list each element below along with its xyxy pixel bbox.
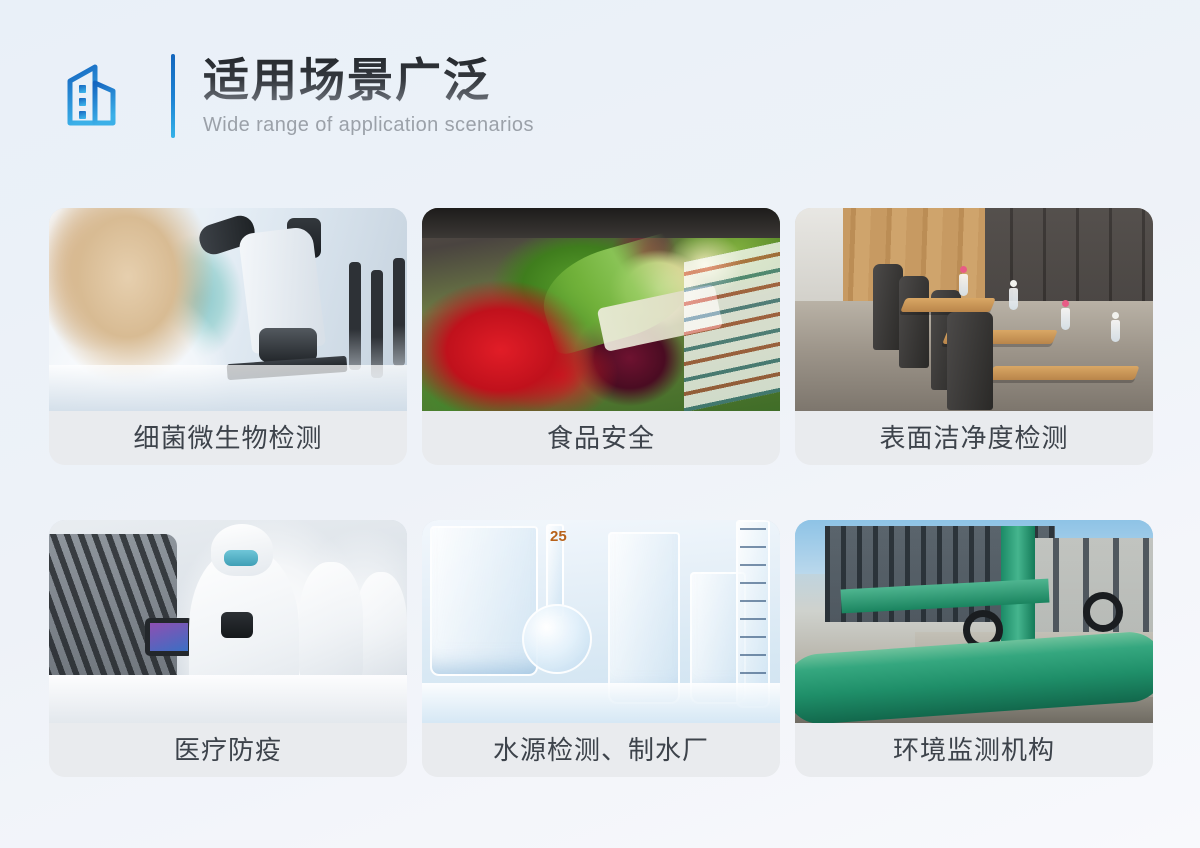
restaurant-interior-photo — [795, 208, 1153, 411]
lab-bench-shape — [49, 365, 407, 411]
production-machine-shape — [49, 534, 177, 684]
page-title: 适用场景广泛 — [203, 55, 534, 107]
beaker-shape — [430, 526, 538, 676]
flower-vase-shape — [1009, 288, 1018, 310]
vegetable-market-photo — [422, 208, 780, 411]
flower-vase-shape — [1061, 308, 1070, 330]
scenario-card[interactable]: 25 水源检测、制水厂 — [422, 520, 780, 777]
cleanroom-workers-photo — [49, 520, 407, 723]
flower-bloom-shape — [1112, 312, 1119, 319]
scenario-card[interactable]: 医疗防疫 — [49, 520, 407, 777]
scenario-card-label: 表面洁净度检测 — [795, 411, 1153, 465]
pipette-shape — [371, 270, 383, 378]
flower-bloom-shape — [1010, 280, 1017, 287]
flower-bloom-shape — [960, 266, 967, 273]
table-shape — [988, 366, 1139, 380]
scenario-card-label: 细菌微生物检测 — [49, 411, 407, 465]
market-stall-top-shape — [422, 208, 780, 238]
header-titles: 适用场景广泛 Wide range of application scenari… — [203, 55, 534, 137]
green-pipeline-photo — [795, 520, 1153, 723]
page-header: 适用场景广泛 Wide range of application scenari… — [60, 48, 534, 144]
scenario-card[interactable]: 表面洁净度检测 — [795, 208, 1153, 465]
graduation-ticks-shape — [740, 528, 766, 678]
scenario-card-label: 环境监测机构 — [795, 723, 1153, 777]
scenario-card[interactable]: 环境监测机构 — [795, 520, 1153, 777]
scenario-card-grid: 细菌微生物检测 食品安全 — [49, 208, 1153, 777]
lab-table-shape — [422, 683, 780, 723]
table-shape — [900, 298, 996, 312]
cleanroom-suit-shape — [299, 562, 363, 682]
valve-wheel-shape — [1083, 592, 1123, 632]
beaker-shape — [608, 532, 680, 704]
microscope-turret-shape — [259, 328, 317, 362]
scenario-card[interactable]: 细菌微生物检测 — [49, 208, 407, 465]
header-divider — [171, 54, 175, 138]
chair-shape — [947, 312, 993, 410]
flower-bloom-shape — [1062, 300, 1069, 307]
scenario-card-label: 食品安全 — [422, 411, 780, 465]
face-mask-shape — [224, 550, 258, 566]
pipette-shape — [393, 258, 405, 366]
building-icon — [60, 59, 134, 133]
lab-glassware-photo: 25 — [422, 520, 780, 723]
scenario-card-label: 医疗防疫 — [49, 723, 407, 777]
flower-vase-shape — [959, 274, 968, 296]
control-panel-shape — [145, 618, 193, 656]
scenario-card[interactable]: 食品安全 — [422, 208, 780, 465]
face-mask-shape — [221, 612, 253, 638]
flask-volume-marking: 25 — [550, 528, 567, 545]
scenario-card-label: 水源检测、制水厂 — [422, 723, 780, 777]
microscope-lab-photo — [49, 208, 407, 411]
pipette-shape — [349, 262, 361, 370]
flask-bulb-shape — [522, 604, 592, 674]
flower-vase-shape — [1111, 320, 1120, 342]
work-counter-shape — [49, 675, 407, 723]
produce-crate-shape — [684, 242, 780, 411]
chair-shape — [899, 276, 929, 368]
page-subtitle: Wide range of application scenarios — [203, 113, 534, 137]
